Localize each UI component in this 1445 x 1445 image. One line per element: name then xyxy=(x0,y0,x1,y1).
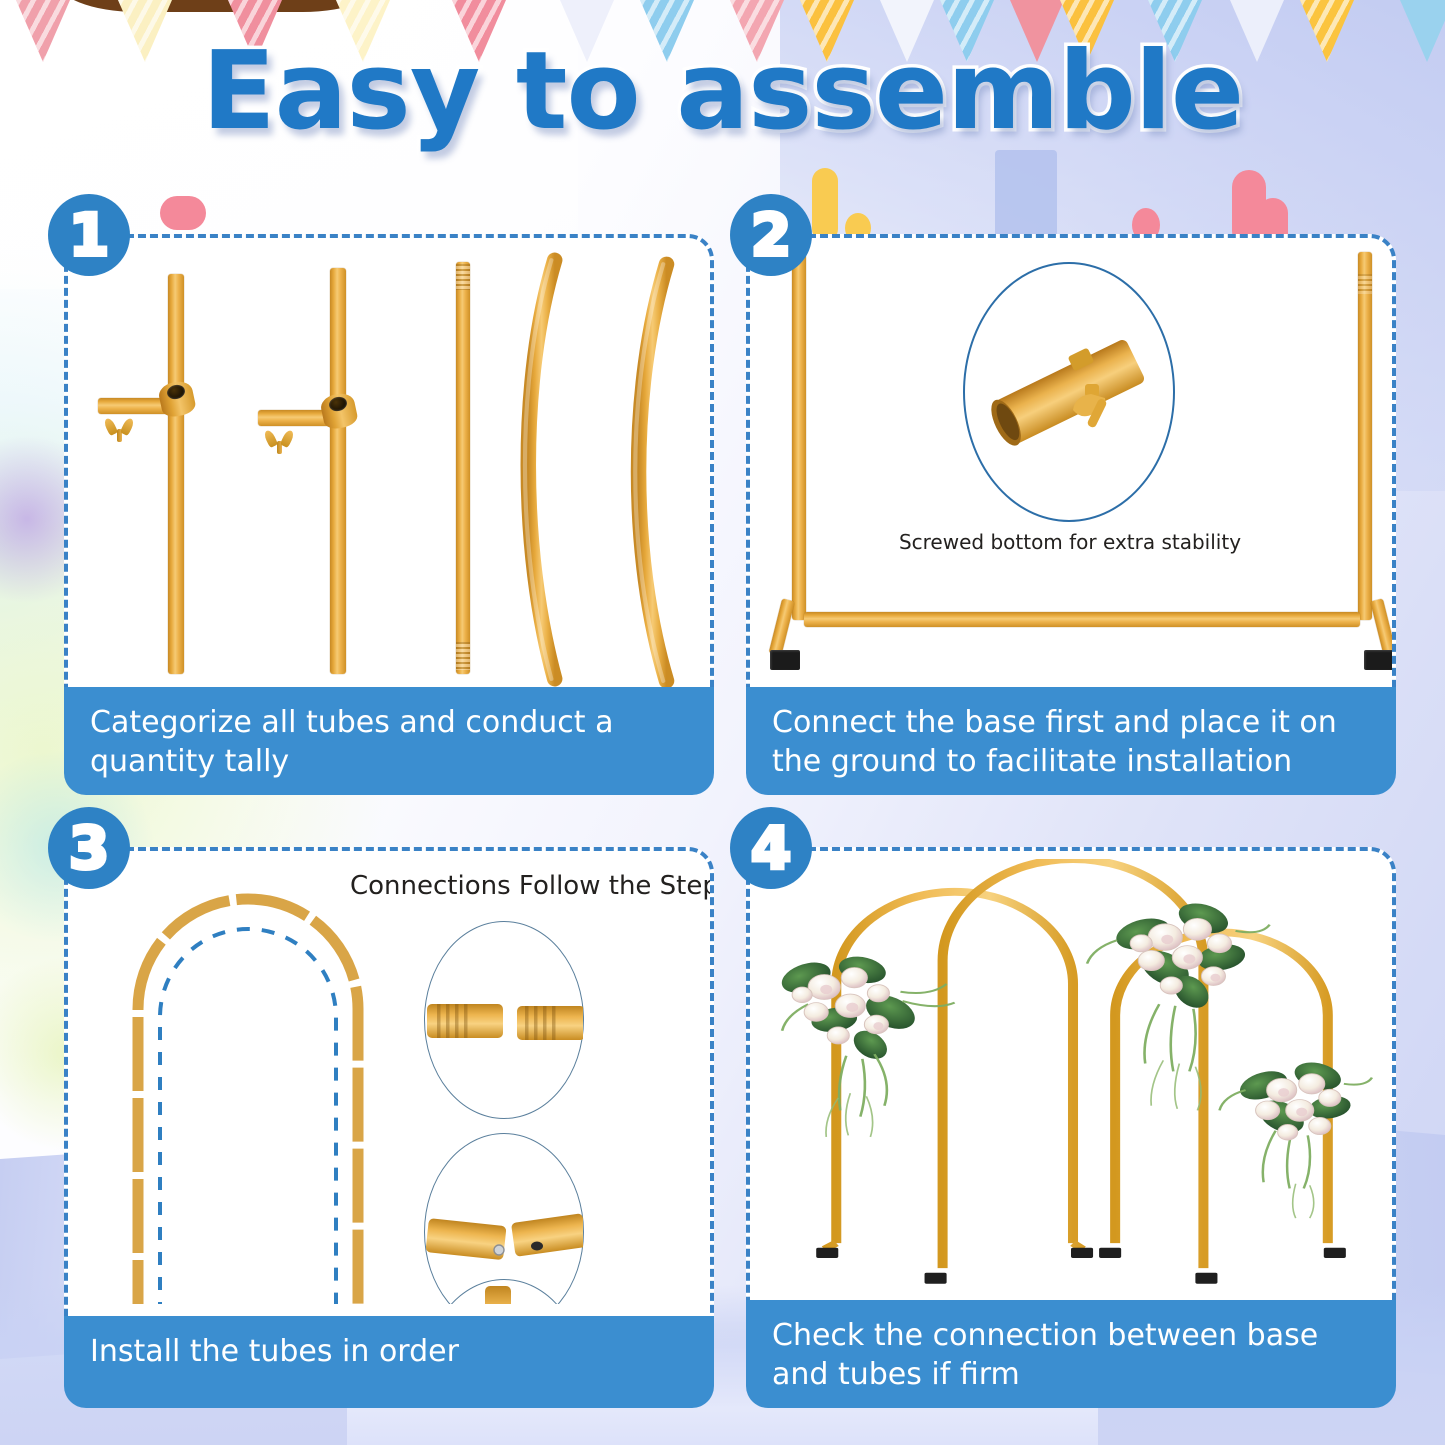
curved-tube-long xyxy=(635,264,666,681)
panel-2-illustration: Screwed bottom for extra stability xyxy=(750,246,1392,691)
steps-grid: 1 xyxy=(56,196,1396,1408)
panel-1-illustration xyxy=(68,246,710,691)
panel-connect-base: 2 xyxy=(738,196,1396,795)
screwed-bottom-label: Screwed bottom for extra stability xyxy=(830,530,1310,554)
tube-with-thumb-screw-icon xyxy=(982,331,1146,450)
panel-install-tubes-in-order: 3 Connections Follow the Steps: xyxy=(56,809,714,1408)
connections-steps-label: Connections Follow the Steps: xyxy=(350,871,710,901)
step-badge-2: 2 xyxy=(730,194,812,276)
connection-detail-ribbed-joint xyxy=(424,921,584,1119)
panel-4-caption: Check the connection between base and tu… xyxy=(746,1300,1396,1408)
curved-tube-short xyxy=(525,260,555,679)
floral-swag-right-lower xyxy=(1219,1057,1371,1218)
banner-arc-shape xyxy=(55,0,385,12)
step-badge-1: 1 xyxy=(48,194,130,276)
panel-2-caption: Connect the base first and place it on t… xyxy=(746,687,1396,795)
panel-4-illustration xyxy=(750,859,1392,1304)
foot-cap-left xyxy=(770,650,800,670)
infographic-canvas: Easy to assemble 1 xyxy=(0,0,1445,1445)
panel-3-caption: Install the tubes in order xyxy=(64,1316,714,1408)
panel-check-connection: 4 xyxy=(738,809,1396,1408)
panel-1-caption: Categorize all tubes and conduct a quant… xyxy=(64,687,714,795)
curved-tubes-group xyxy=(68,246,710,691)
step-badge-4: 4 xyxy=(730,807,812,889)
arch-frame-left xyxy=(816,892,1093,1258)
arch-assembly-outline xyxy=(68,859,468,1304)
foot-cap-right xyxy=(1364,650,1392,670)
step-badge-3: 3 xyxy=(48,807,130,889)
panel-3-illustration: Connections Follow the Steps: xyxy=(68,859,710,1304)
connection-detail-socket-screw xyxy=(424,1279,584,1304)
floral-swag-left xyxy=(775,952,954,1137)
page-title: Easy to assemble xyxy=(0,38,1445,146)
screwed-bottom-detail-oval xyxy=(963,262,1175,522)
panel-categorize-tubes: 1 xyxy=(56,196,714,795)
